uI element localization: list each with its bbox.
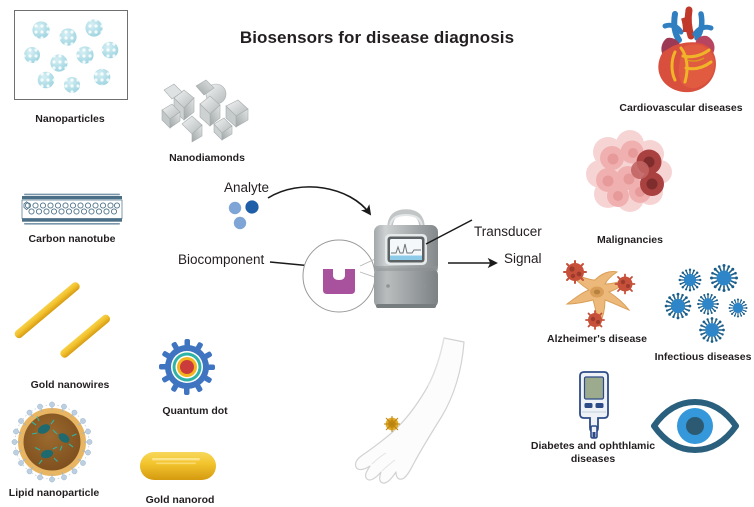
label-gold-nanowires: Gold nanowires xyxy=(12,379,128,392)
label-carbon-nanotube: Carbon nanotube xyxy=(14,233,130,246)
label-alzheimers: Alzheimer's disease xyxy=(534,333,660,346)
gold-nanorod-figure xyxy=(136,446,220,486)
label-nanodiamonds: Nanodiamonds xyxy=(152,152,262,165)
neuron-plaque-icon xyxy=(551,258,647,334)
quantum-dot-figure xyxy=(155,335,219,399)
label-cardiovascular: Cardiovascular diseases xyxy=(608,102,754,115)
leader-transducer xyxy=(422,218,476,248)
label-lipid-nanoparticle: Lipid nanoparticle xyxy=(0,487,108,500)
nanoparticles-box xyxy=(14,10,128,100)
analyte-dots-icon xyxy=(226,199,266,235)
quantum-dot-icon xyxy=(155,335,219,399)
gold-nanowires-icon xyxy=(14,280,144,370)
nanodiamonds-icon xyxy=(152,78,262,148)
carbon-nanotube-icon xyxy=(20,192,124,226)
figure-canvas: Biosensors for disease diagnosis xyxy=(0,0,754,507)
label-nanoparticles: Nanoparticles xyxy=(18,113,122,126)
neuron-figure xyxy=(551,258,647,334)
gold-nanowires-figure xyxy=(14,280,144,370)
label-gold-nanorod: Gold nanorod xyxy=(128,494,232,507)
tumor-cells-icon xyxy=(580,126,680,222)
virus-particles-icon xyxy=(660,266,754,346)
label-biocomponent: Biocomponent xyxy=(178,252,264,267)
glucometer-figure xyxy=(572,370,616,442)
carbon-nanotube-figure xyxy=(20,192,124,226)
human-arm-sensor-icon xyxy=(348,336,468,496)
analyte-figure xyxy=(226,199,266,235)
arrow-signal xyxy=(446,254,508,272)
heart-icon xyxy=(645,8,731,96)
eye-icon xyxy=(650,398,740,454)
nanoparticles-icon xyxy=(15,11,127,99)
virus-figure xyxy=(660,266,754,346)
tumor-figure xyxy=(580,126,680,222)
label-quantum-dot: Quantum dot xyxy=(147,405,243,418)
lipid-nanoparticle-icon xyxy=(6,400,98,486)
nanodiamonds-figure xyxy=(152,78,262,148)
label-diabetes: Diabetes and ophthlamic diseases xyxy=(518,440,668,466)
glucometer-icon xyxy=(572,370,616,442)
gold-nanorod-icon xyxy=(136,446,220,486)
lipid-nanoparticle-figure xyxy=(6,400,98,486)
label-malignancies: Malignancies xyxy=(578,234,682,247)
label-signal: Signal xyxy=(504,251,542,266)
heart-figure xyxy=(645,8,731,96)
label-transducer: Transducer xyxy=(474,224,542,239)
label-analyte: Analyte xyxy=(224,180,269,195)
human-arm-figure xyxy=(348,336,468,496)
label-infectious: Infectious diseases xyxy=(648,351,754,364)
eye-figure xyxy=(650,398,740,454)
